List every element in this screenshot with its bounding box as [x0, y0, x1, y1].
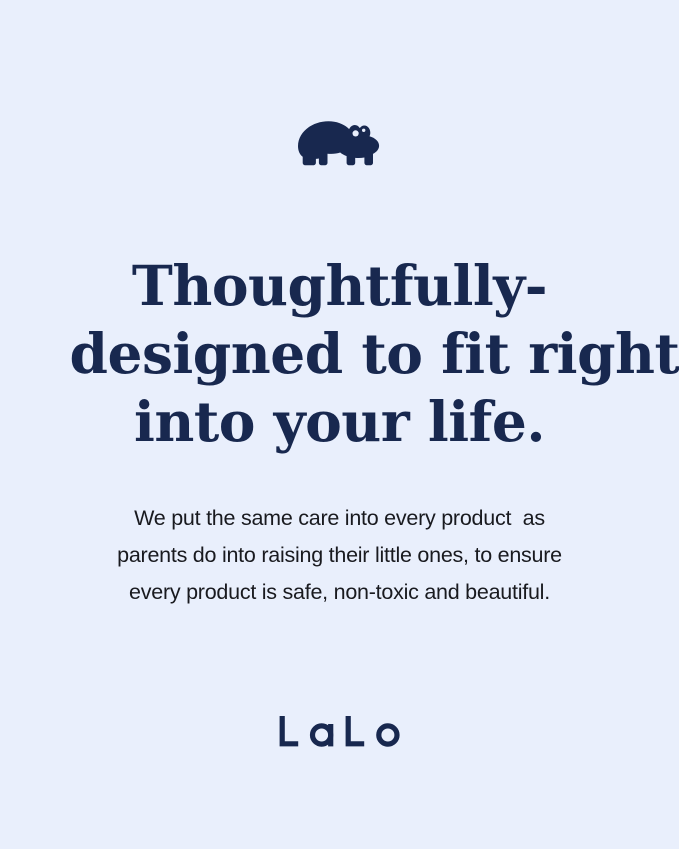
body-copy-line-2: parents do into raising their little one…: [70, 537, 610, 574]
headline-line-3: into your life.: [70, 388, 610, 456]
lalo-wordmark: [0, 716, 679, 748]
headline-line-1: Thoughtfully-: [70, 252, 610, 320]
page-title: Thoughtfully- designed to fit right into…: [70, 252, 610, 456]
headline-line-2: designed to fit right: [70, 320, 610, 388]
body-copy-line-3: every product is safe, non-toxic and bea…: [70, 574, 610, 611]
body-copy-line-1: We put the same care into every product …: [70, 500, 610, 537]
body-copy: We put the same care into every product …: [70, 500, 610, 611]
hippo-logo-icon: [298, 118, 382, 170]
promo-poster: Thoughtfully- designed to fit right into…: [0, 0, 679, 849]
